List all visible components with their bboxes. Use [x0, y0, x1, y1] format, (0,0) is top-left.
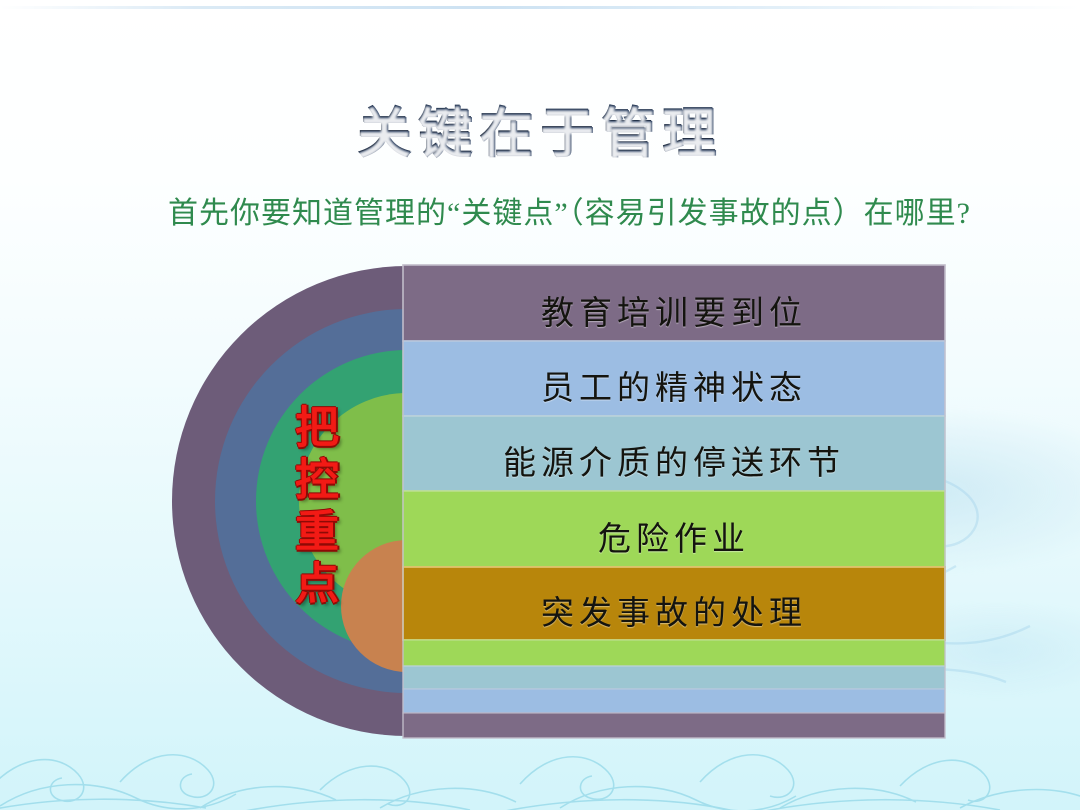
arc-ring-2: [215, 309, 599, 693]
slide-canvas: 关键在于管理 首先你要知道管理的“关键点”（容易引发事故的点）在哪里?: [0, 0, 1080, 810]
band-bar-4: [403, 491, 945, 567]
band-bar-mirror-3: [403, 666, 945, 689]
band-label-3: 能源介质的停送环节: [403, 436, 945, 484]
arc-ring-1: [172, 266, 642, 736]
diagram-caption-vertical: 把控重点: [286, 404, 338, 612]
bar-stack-frame: [403, 265, 945, 738]
arc-rings: [172, 266, 642, 736]
band-bar-mirror-4: [403, 640, 945, 666]
arc-ring-3: [256, 350, 558, 652]
top-rule-decoration: [0, 6, 1080, 9]
band-bar-3: [403, 416, 945, 491]
arc-ring-5: [341, 540, 473, 672]
band-label-1: 教育培训要到位: [403, 286, 945, 334]
band-bars: [403, 265, 945, 640]
band-label-5: 突发事故的处理: [403, 586, 945, 634]
band-bar-5: [403, 567, 945, 640]
cloud-wash-decoration: [500, 340, 1080, 770]
cloud-swirl-icon: [560, 400, 1080, 740]
band-bar-mirror-1: [403, 713, 945, 738]
page-title: 关键在于管理: [0, 88, 1080, 167]
band-bars-mirror: [403, 640, 945, 738]
band-bar-2: [403, 341, 945, 416]
wave-pattern-decoration: [0, 670, 1080, 810]
band-label-4: 危险作业: [403, 512, 945, 560]
band-bar-mirror-2: [403, 689, 945, 713]
subtitle-text: 首先你要知道管理的“关键点”（容易引发事故的点）在哪里?: [96, 192, 976, 236]
arc-ring-4: [299, 393, 515, 609]
band-label-2: 员工的精神状态: [403, 361, 945, 409]
band-bar-1: [403, 265, 945, 341]
